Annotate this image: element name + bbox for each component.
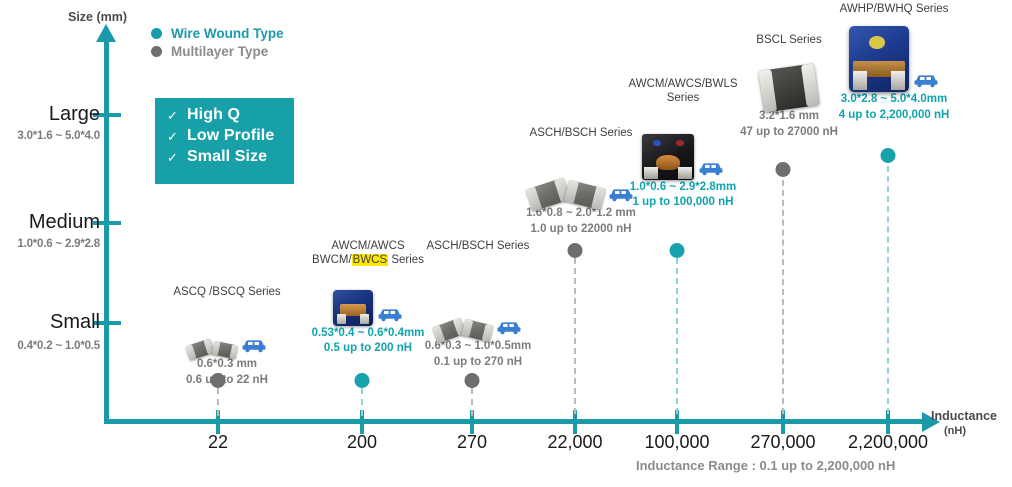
y-axis-line <box>104 38 109 424</box>
product-group-awhp-bwhq[interactable]: AWHP/BWHQ Series 3.0*2.8 ~ 5.0*4.0mm 4 u… <box>794 2 994 123</box>
stem-ascq-bscq <box>217 388 219 416</box>
x-label-2200000: 2,200,000 <box>848 432 928 453</box>
legend-label-wire-wound: Wire Wound Type <box>171 26 284 41</box>
black-power-inductor-icon <box>642 134 694 180</box>
product-title-asch-bsch-270: ASCH/BSCH Series <box>378 239 578 253</box>
x-axis-title: Inductance (nH) <box>931 409 997 438</box>
data-point-ascq-bscq[interactable] <box>211 373 226 388</box>
x-axis-title-unit: (nH) <box>944 425 997 439</box>
x-label-22000: 22,000 <box>547 432 602 453</box>
big-blue-inductor-icon <box>849 26 909 92</box>
check-icon: ✓ <box>167 151 179 164</box>
feature-item-low-profile: ✓ Low Profile <box>167 127 294 145</box>
legend-label-multilayer: Multilayer Type <box>171 44 268 59</box>
y-axis-title: Size (mm) <box>68 10 127 24</box>
y-range-medium: 1.0*0.6 ~ 2.9*2.8 <box>0 238 100 250</box>
data-point-awcm-bwls[interactable] <box>670 243 685 258</box>
x-label-270: 270 <box>457 432 487 453</box>
check-icon: ✓ <box>167 109 179 122</box>
product-inductance-ascq-bscq: 0.6 up to 22 nH <box>127 373 327 389</box>
automotive-car-icon <box>698 160 724 176</box>
y-axis-arrowhead-icon <box>96 24 116 42</box>
data-point-awhp-bwhq[interactable] <box>881 148 896 163</box>
product-dimension-asch-bsch-270: 0.6*0.3 ~ 1.0*0.5mm <box>378 339 578 355</box>
automotive-car-icon <box>913 72 939 88</box>
product-inductance-asch-bsch-22000: 1.0 up to 22000 nH <box>471 222 691 238</box>
legend-item-multilayer: Multilayer Type <box>151 44 284 59</box>
y-label-medium: Medium <box>0 211 100 234</box>
stem-awhp-bwhq <box>887 166 889 414</box>
product-group-asch-bsch-270[interactable]: ASCH/BSCH Series 0.6*0.3 ~ 1.0*0.5mm 0.1… <box>378 239 578 370</box>
title-prefix: BWCM/ <box>312 254 352 266</box>
data-point-asch-bsch-22000[interactable] <box>568 243 583 258</box>
product-inductance-bscl: 47 up to 27000 nH <box>694 125 884 141</box>
product-inductance-awhp-bwhq: 4 up to 2,200,000 nH <box>794 108 994 124</box>
stem-asch-bsch-270 <box>471 388 473 416</box>
data-point-asch-bsch-270[interactable] <box>465 373 480 388</box>
legend: Wire Wound Type Multilayer Type <box>151 26 284 62</box>
x-label-270000: 270,000 <box>750 432 815 453</box>
product-image-asch-bsch-270 <box>378 253 578 339</box>
feature-item-small-size: ✓ Small Size <box>167 148 294 166</box>
x-axis-title-main: Inductance <box>931 409 997 423</box>
product-dimension-ascq-bscq: 0.6*0.3 mm <box>127 357 327 373</box>
product-title-awhp-bwhq: AWHP/BWHQ Series <box>794 2 994 16</box>
x-axis-line <box>104 419 926 424</box>
y-range-large: 3.0*1.6 ~ 5.0*4.0 <box>0 130 100 142</box>
product-inductance-asch-bsch-270: 0.1 up to 270 nH <box>378 355 578 371</box>
x-label-100000: 100,000 <box>644 432 709 453</box>
x-label-22: 22 <box>208 432 228 453</box>
stem-awcm-bwcs <box>361 388 363 416</box>
data-point-bscl[interactable] <box>776 162 791 177</box>
legend-dot-wire-wound-icon <box>151 28 162 39</box>
blue-wirewound-drum-icon <box>333 290 373 326</box>
automotive-car-icon <box>496 319 522 335</box>
check-icon: ✓ <box>167 130 179 143</box>
stem-asch-bsch-22000 <box>574 258 576 414</box>
feature-label-small-size: Small Size <box>187 148 267 166</box>
product-dimension-awhp-bwhq: 3.0*2.8 ~ 5.0*4.0mm <box>794 92 994 108</box>
product-image-awhp-bwhq <box>794 16 994 92</box>
y-label-small: Small <box>0 311 100 334</box>
inductance-range-note: Inductance Range : 0.1 up to 2,200,000 n… <box>636 458 895 473</box>
legend-item-wire-wound: Wire Wound Type <box>151 26 284 41</box>
y-label-large: Large <box>0 103 100 126</box>
feature-label-low-profile: Low Profile <box>187 127 274 145</box>
stem-awcm-bwls <box>676 258 678 414</box>
inductor-size-inductance-chart: Size (mm) Inductance (nH) Large 3.0*1.6 … <box>0 0 1012 487</box>
feature-item-high-q: ✓ High Q <box>167 106 294 124</box>
legend-dot-multilayer-icon <box>151 46 162 57</box>
product-inductance-awcm-bwls: 1 up to 100,000 nH <box>583 195 783 211</box>
product-dimension-awcm-bwls: 1.0*0.6 ~ 2.9*2.8mm <box>583 180 783 196</box>
y-range-small: 0.4*0.2 ~ 1.0*0.5 <box>0 340 100 352</box>
feature-highlight-box: ✓ High Q ✓ Low Profile ✓ Small Size <box>155 98 294 184</box>
feature-label-high-q: High Q <box>187 106 240 124</box>
stem-bscl <box>782 180 784 414</box>
data-point-awcm-bwcs[interactable] <box>355 373 370 388</box>
x-label-200: 200 <box>347 432 377 453</box>
